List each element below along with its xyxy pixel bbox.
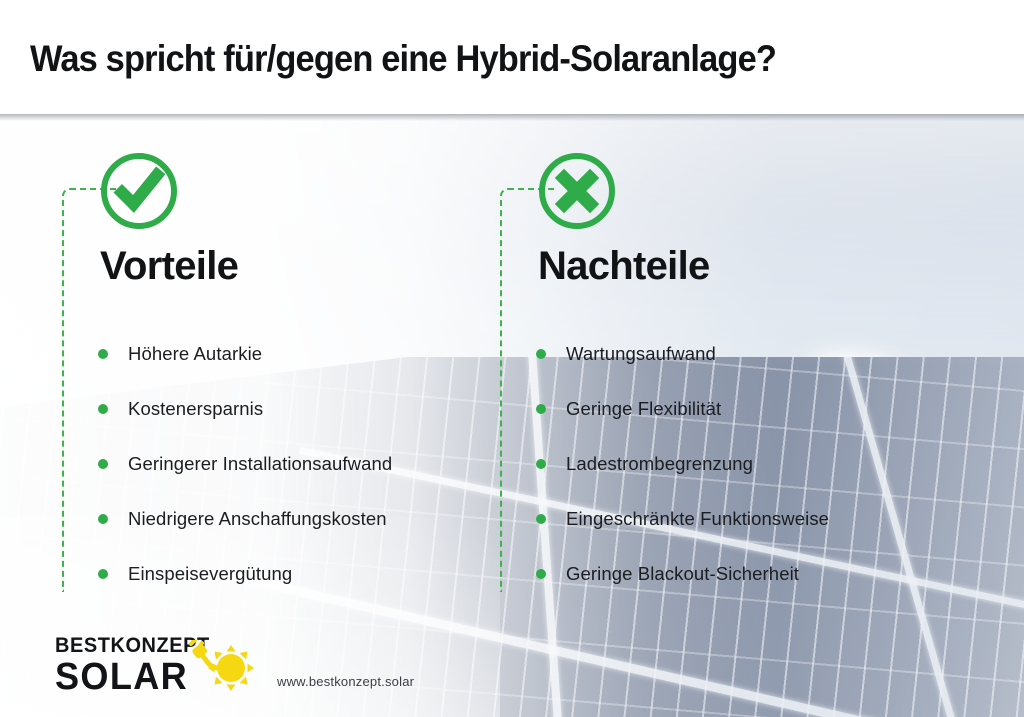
list-item: Höhere Autarkie (98, 326, 528, 381)
list-item-label: Kostenersparnis (128, 398, 263, 420)
list-item: Wartungsaufwand (536, 326, 966, 381)
list-item-label: Geringerer Installationsaufwand (128, 453, 392, 475)
bullet-dot-icon (98, 514, 108, 524)
website-url: www.bestkonzept.solar (277, 674, 414, 689)
bullet-dot-icon (98, 349, 108, 359)
header-band: Was spricht für/gegen eine Hybrid-Solara… (0, 0, 1024, 114)
pros-heading: Vorteile (100, 244, 238, 289)
list-item: Geringerer Installationsaufwand (98, 436, 528, 491)
header-divider-shadow (0, 114, 1024, 121)
x-circle-icon (538, 152, 616, 230)
brand-logo: BESTKONZEPT SOLAR (55, 632, 265, 694)
page-title: Was spricht für/gegen eine Hybrid-Solara… (30, 38, 776, 80)
list-item: Geringe Flexibilität (536, 381, 966, 436)
list-item: Geringe Blackout-Sicherheit (536, 546, 966, 601)
bullet-dot-icon (98, 404, 108, 414)
list-item-label: Einspeisevergütung (128, 563, 292, 585)
bullet-dot-icon (536, 569, 546, 579)
bullet-dot-icon (536, 349, 546, 359)
infographic-root: Was spricht für/gegen eine Hybrid-Solara… (0, 0, 1024, 717)
bullet-dot-icon (536, 404, 546, 414)
list-item: Kostenersparnis (98, 381, 528, 436)
cons-list: Wartungsaufwand Geringe Flexibilität Lad… (536, 326, 966, 601)
list-item: Einspeisevergütung (98, 546, 528, 601)
cons-heading: Nachteile (538, 244, 710, 289)
check-circle-icon (100, 152, 178, 230)
bullet-dot-icon (98, 459, 108, 469)
list-item-label: Geringe Blackout-Sicherheit (566, 563, 799, 585)
footer-area: BESTKONZEPT SOLAR (0, 607, 1024, 717)
list-item-label: Geringe Flexibilität (566, 398, 721, 420)
bullet-dot-icon (536, 459, 546, 469)
list-item-label: Höhere Autarkie (128, 343, 262, 365)
list-item: Niedrigere Anschaffungskosten (98, 491, 528, 546)
list-item-label: Wartungsaufwand (566, 343, 716, 365)
pros-list: Höhere Autarkie Kostenersparnis Geringer… (98, 326, 528, 601)
list-item-label: Ladestrombegrenzung (566, 453, 753, 475)
list-item: Eingeschränkte Funktionsweise (536, 491, 966, 546)
bullet-dot-icon (98, 569, 108, 579)
list-item: Ladestrombegrenzung (536, 436, 966, 491)
bullet-dot-icon (536, 514, 546, 524)
sun-plug-icon (187, 640, 259, 692)
list-item-label: Eingeschränkte Funktionsweise (566, 508, 829, 530)
list-item-label: Niedrigere Anschaffungskosten (128, 508, 387, 530)
